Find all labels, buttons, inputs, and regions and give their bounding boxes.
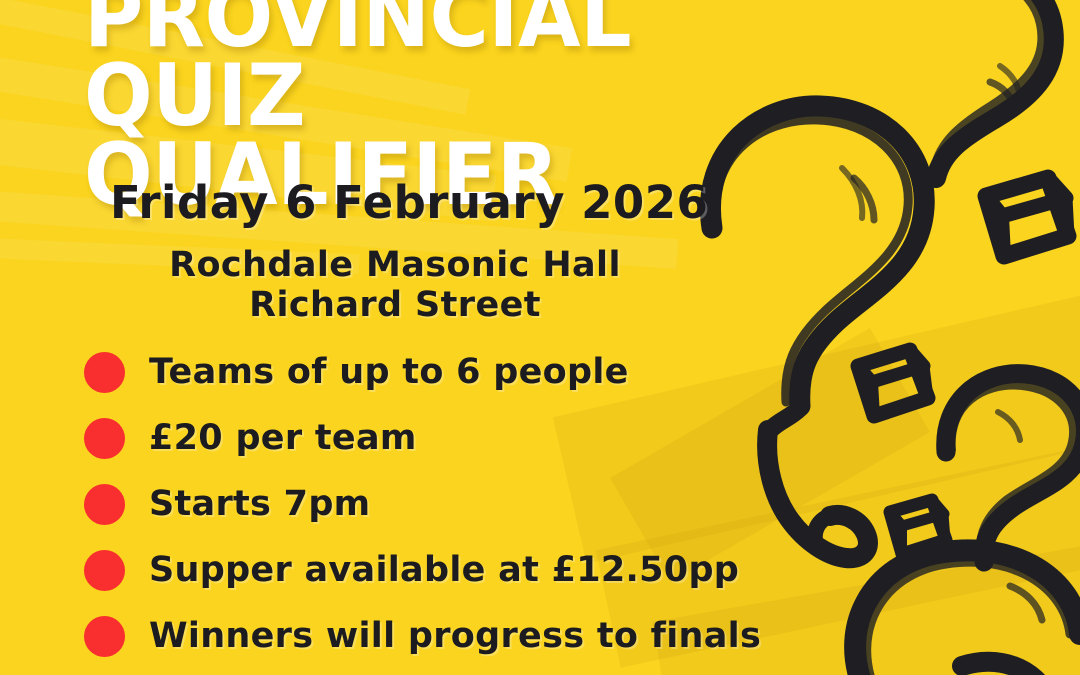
red-dot-icon bbox=[84, 550, 125, 591]
list-item: Teams of up to 6 people bbox=[84, 339, 914, 405]
venue-line-2: Richard Street bbox=[0, 286, 790, 326]
red-dot-icon bbox=[84, 484, 125, 525]
venue-line-1: Rochdale Masonic Hall bbox=[0, 246, 790, 286]
red-dot-icon bbox=[84, 352, 125, 393]
list-item-label: Winners will progress to finals bbox=[149, 616, 761, 656]
venue-block: Rochdale Masonic Hall Richard Street bbox=[0, 246, 790, 325]
list-item: £20 per team bbox=[84, 405, 914, 471]
list-item-label: Teams of up to 6 people bbox=[149, 352, 629, 392]
red-dot-icon bbox=[84, 616, 125, 657]
list-item: Winners will progress to finals bbox=[84, 603, 914, 669]
list-item-label: Starts 7pm bbox=[149, 484, 370, 524]
quiz-poster: PROVINCIAL QUIZ QUALIFIER Friday 6 Febru… bbox=[0, 0, 1080, 675]
list-item-label: £20 per team bbox=[149, 418, 417, 458]
list-item: Supper available at £12.50pp bbox=[84, 537, 914, 603]
list-item-label: Supper available at £12.50pp bbox=[149, 550, 739, 590]
red-dot-icon bbox=[84, 418, 125, 459]
poster-content: PROVINCIAL QUIZ QUALIFIER Friday 6 Febru… bbox=[0, 0, 1080, 675]
details-list: Teams of up to 6 people £20 per team Sta… bbox=[84, 339, 914, 669]
list-item: Starts 7pm bbox=[84, 471, 914, 537]
event-date: Friday 6 February 2026 bbox=[110, 176, 708, 229]
